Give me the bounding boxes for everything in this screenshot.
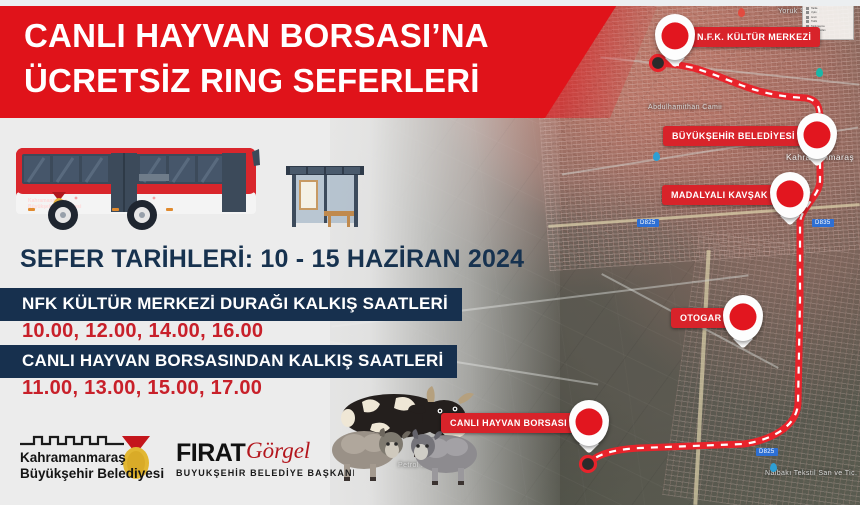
map-pin-icon [723,295,763,341]
mayor-title: BUYUKŞEHİR BELEDİYE BAŞKANI [176,468,354,478]
map-legend-label: Harita [811,7,817,10]
map-pin-canli-hayvan-borsasi[interactable]: CANLI HAYVAN BORSASI [441,400,609,446]
map-pin-label: MADALYALI KAVŞAK [662,185,777,205]
mayor-first-name: FIRAT [176,439,245,467]
departure-times-nfk: 10.00, 12.00, 14.00, 16.00 [22,320,263,343]
map-pin-label: BÜYÜKŞEHİR BELEDİYESİ [663,126,804,146]
bus-illustration: Kahramanmaraş Büyükşehir Belediyesi [14,144,266,236]
poster-canvas: Kahramanmaraş Yoruk Selim Abdulhamithan … [0,0,860,505]
map-pin-icon [770,172,810,218]
map-poi-marker [653,152,660,161]
header-banner: CANLI HAYVAN BORSASI’NA ÜCRETSİZ RING SE… [0,0,620,118]
departure-times-borsa: 11.00, 13.00, 15.00, 17.00 [22,377,262,400]
map-place-label: Nalbakı Tekstil San ve Tic. [765,470,857,477]
municipality-logo [20,437,124,444]
map-pin-icon [569,400,609,446]
map-poi-marker [816,68,823,77]
map-pin-nfk-kultur-merkezi[interactable]: N.F.K. KÜLTÜR MERKEZİ [655,14,820,60]
map-pin-label: N.F.K. KÜLTÜR MERKEZİ [688,27,820,47]
map-place-label: Abdulhamithan Camii [648,104,722,111]
map-pin-icon [655,14,695,60]
map-pin-otogar[interactable]: OTOGAR [671,295,763,341]
map-pin-madalyali-kavsak[interactable]: MADALYALI KAVŞAK [662,172,810,218]
header-title-line2: ÜCRETSİZ RING SEFERLERİ [24,62,480,100]
map-pin-icon [797,113,837,159]
map-pin-buyuksehir-belediyesi[interactable]: BÜYÜKŞEHİR BELEDİYESİ [663,113,837,159]
map-legend-row: Harita [806,7,850,10]
header-title-line1: CANLI HAYVAN BORSASI’NA [24,17,489,55]
map-road-badge: D835 [812,219,834,227]
mayor-last-name: Görgel [246,438,310,463]
municipality-name-line2: Büyükşehir Belediyesi [20,466,164,481]
departure-heading-nfk: NFK KÜLTÜR MERKEZİ DURAĞI KALKIŞ SAATLER… [0,288,462,321]
trip-dates-label: SEFER TARİHLERİ: 10 - 15 HAZİRAN 2024 [20,245,524,274]
logo-row: Kahramanmaraş Büyükşehir Belediyesi FIRA… [14,428,354,490]
map-pin-label: OTOGAR [671,308,730,328]
departure-heading-borsa: CANLI HAYVAN BORSASINDAN KALKIŞ SAATLERİ [0,345,457,378]
map-pin-label: CANLI HAYVAN BORSASI [441,413,576,433]
bus-shelter-illustration [284,158,366,236]
municipality-name-line1: Kahramanmaraş [20,450,126,465]
map-road-badge: D825 [756,448,778,456]
map-poi-marker [770,463,777,472]
top-edge-strip [0,0,860,6]
legend-swatch-icon [806,7,809,10]
map-road-badge: D825 [637,219,659,227]
